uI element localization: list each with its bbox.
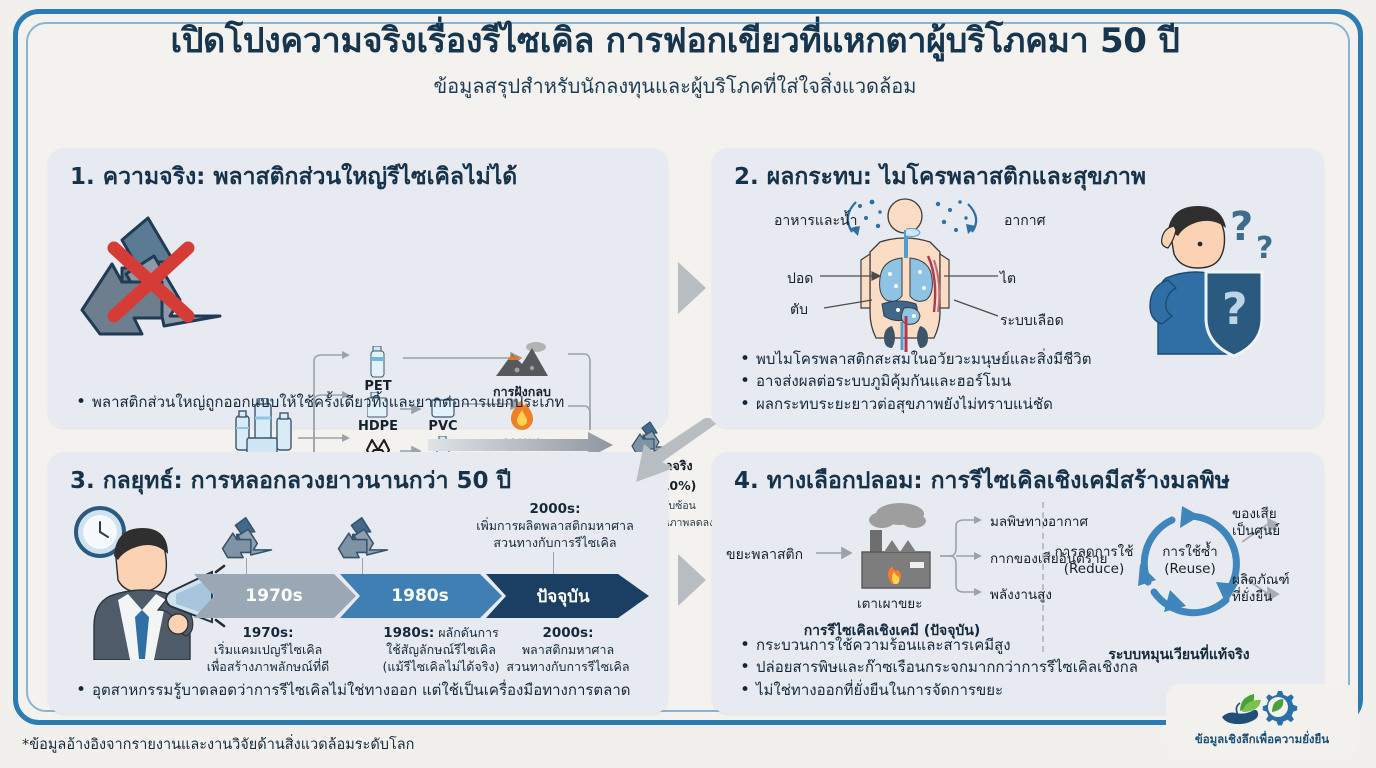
svg-text:?: ? <box>1222 284 1248 335</box>
list-item: ปล่อยสารพิษและก๊าซเรือนกระจกมากกว่าการรี… <box>738 656 1138 679</box>
caption-line2: สวนทางกับการรีไซเคิล <box>506 659 629 674</box>
panel3-title: 3. กลยุทธ์: การหลอกลวงยาวนานกว่า 50 ปี <box>70 463 511 499</box>
timeline-caption-2000s: 2000s: พลาสติกมหาศาล สวนทางกับการรีไซเคิ… <box>478 624 658 676</box>
input-arrow <box>816 546 852 560</box>
page-title: เปิดโปงความจริงเรื่องรีไซเคิล การฟอกเขีย… <box>40 22 1310 61</box>
panel4-title: 4. ทางเลือกปลอม: การรีไซเคิลเชิงเคมีสร้า… <box>734 463 1230 499</box>
zero-waste-line2: เป็นศูนย์ <box>1232 523 1280 539</box>
confused-person-icon: ? ? ? <box>1144 200 1294 358</box>
list-item: อุตสาหกรรมรู้บาดลอดว่าการรีไซเคิลไม่ใช่ท… <box>74 679 631 702</box>
label-reduce: การลดการใช้ (Reduce) <box>1052 544 1136 578</box>
label-incinerator: เตาเผาขยะ <box>857 592 922 614</box>
caption-head: 2000s: <box>542 625 593 641</box>
recycle-icon <box>220 514 274 560</box>
caption-head: 1970s: <box>242 625 293 641</box>
list-item: ผลกระทบระยะยาวต่อสุขภาพยังไม่ทราบแน่ชัด <box>738 393 1091 416</box>
output-sustainable-product: ผลิตภัณฑ์ ที่ยั่งยืน <box>1232 572 1290 606</box>
label-food-water: อาหารและน้ำ <box>774 210 857 232</box>
list-item: อาจส่งผลต่อระบบภูมิคุ้มกันและฮอร์โมน <box>738 370 1091 393</box>
panel-impact: 2. ผลกระทบ: ไมโครพลาสติกและสุขภาพ <box>712 148 1324 428</box>
sustainable-line2: ที่ยั่งยืน <box>1232 589 1273 605</box>
svg-text:?: ? <box>1256 231 1273 266</box>
resin-code-pet: PET <box>353 346 403 394</box>
organ-leader-lines <box>820 266 1010 336</box>
caption-line1: พลาสติกมหาศาล <box>522 642 614 657</box>
no-recycle-icon <box>70 206 230 356</box>
panel-false-solution: 4. ทางเลือกปลอม: การรีไซเคิลเชิงเคมีสร้า… <box>712 452 1324 714</box>
hand-leaf-gear-icon <box>1220 691 1304 729</box>
recycle-icon <box>336 514 390 560</box>
callout-line1: เพิ่มการผลิตพลาสติกมหาศาล <box>476 518 634 533</box>
output-high-energy: พลังงานสูง <box>990 583 1052 605</box>
panel-fact: 1. ความจริง: พลาสติกส่วนใหญ่รีไซเคิลไม่ไ… <box>48 148 668 428</box>
bottle-icon <box>368 346 388 378</box>
reduce-line1: การลดการใช้ <box>1055 544 1134 560</box>
label-plastic-waste: ขยะพลาสติก <box>726 544 803 566</box>
output-zero-waste: ของเสีย เป็นศูนย์ <box>1232 506 1280 540</box>
reduce-line2: (Reduce) <box>1064 561 1124 577</box>
output-air-pollution: มลพิษทางอากาศ <box>990 510 1088 532</box>
label-reuse: การใช้ซ้ำ (Reuse) <box>1150 544 1230 578</box>
caption-head: 1980s: <box>383 625 434 641</box>
logo-text: ข้อมูลเชิงลึกเพื่อความยั่งยืน <box>1195 731 1329 749</box>
timeline-era-1970s: 1970s <box>194 577 354 615</box>
timeline-era-1980s: 1980s <box>340 577 500 615</box>
panel2-title: 2. ผลกระทบ: ไมโครพลาสติกและสุขภาพ <box>734 159 1146 195</box>
panel3-bullets: อุตสาหกรรมรู้บาดลอดว่าการรีไซเคิลไม่ใช่ท… <box>74 679 631 702</box>
landfill-icon <box>492 340 552 380</box>
reuse-line2: (Reuse) <box>1164 561 1216 577</box>
panel-strategy: 3. กลยุทธ์: การหลอกลวงยาวนานกว่า 50 ปี <box>48 452 668 714</box>
label-lungs: ปอด <box>787 268 813 290</box>
panel4-bullets: กระบวนการใช้ความร้อนและสารเคมีสูง ปล่อยส… <box>738 634 1138 702</box>
timeline-top-callout: 2000s: เพิ่มการผลิตพลาสติกมหาศาล สวนทางก… <box>440 500 670 552</box>
footnote: *ข้อมูลอ้างอิงจากรายงานและงานวิจัยด้านสิ… <box>22 733 414 756</box>
label-air: อากาศ <box>1004 210 1046 232</box>
factory-output-bracket <box>938 510 986 602</box>
flow-arrow-3-to-4 <box>672 550 710 610</box>
list-item: พลาสติกส่วนใหญ่ถูกออกแบบให้ใช้ครั้งเดียว… <box>74 391 564 414</box>
flow-arrow-1-to-2 <box>672 258 710 318</box>
panel2-bullets: พบไมโครพลาสติกสะสมในอวัยวะมนุษย์และสิ่งม… <box>738 348 1091 416</box>
callout-line2: สวนทางกับการรีไซเคิล <box>493 535 616 550</box>
sustainable-line1: ผลิตภัณฑ์ <box>1232 572 1290 588</box>
timeline-era-present: ปัจจุบัน <box>488 577 638 615</box>
header: เปิดโปงความจริงเรื่องรีไซเคิล การฟอกเขีย… <box>40 22 1310 102</box>
timeline-caption-1970s: 1970s: เริ่มแคมเปญรีไซเคิล เพื่อสร้างภาพ… <box>178 624 358 676</box>
flow-arrow-2-to-3 <box>630 418 720 488</box>
logo: ข้อมูลเชิงลึกเพื่อความยั่งยืน <box>1166 684 1358 756</box>
caption-line2: เพื่อสร้างภาพลักษณ์ที่ดี <box>207 659 329 674</box>
caption-line1: เริ่มแคมเปญรีไซเคิล <box>214 642 323 657</box>
incinerator-icon <box>852 500 942 592</box>
reuse-line1: การใช้ซ้ำ <box>1162 544 1218 560</box>
list-item: พบไมโครพลาสติกสะสมในอวัยวะมนุษย์และสิ่งม… <box>738 348 1091 371</box>
zero-waste-line1: ของเสีย <box>1232 506 1277 522</box>
panel1-bullets: พลาสติกส่วนใหญ่ถูกออกแบบให้ใช้ครั้งเดียว… <box>74 391 564 414</box>
list-item: กระบวนการใช้ความร้อนและสารเคมีสูง <box>738 634 1138 657</box>
page-subtitle: ข้อมูลสรุปสำหรับนักลงทุนและผู้บริโภคที่ใ… <box>40 70 1310 102</box>
callout-head: 2000s: <box>529 501 580 517</box>
panel1-title: 1. ความจริง: พลาสติกส่วนใหญ่รีไซเคิลไม่ไ… <box>70 159 517 195</box>
svg-text:?: ? <box>1230 204 1253 250</box>
list-item: ไม่ใช่ทางออกที่ยั่งยืนในการจัดการขยะ <box>738 679 1138 702</box>
label-liver: ตับ <box>790 299 808 321</box>
